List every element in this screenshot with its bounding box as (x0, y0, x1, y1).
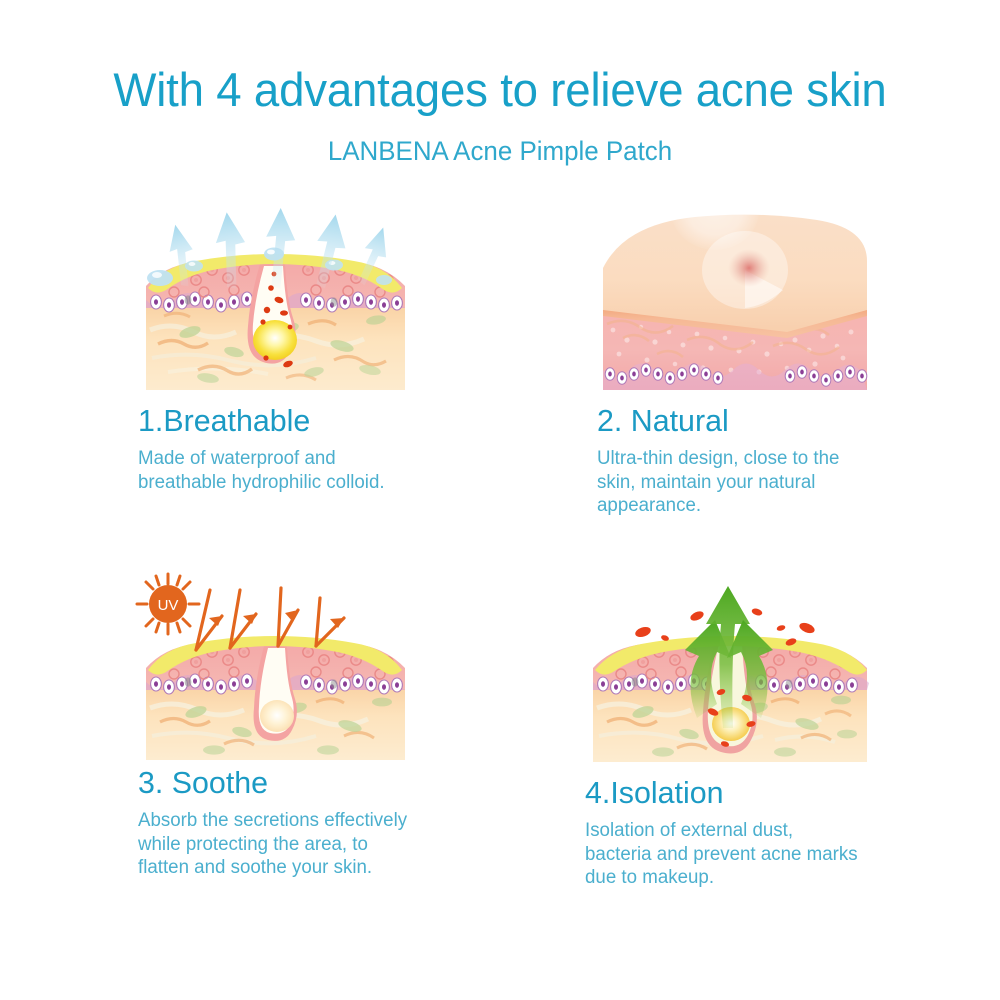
feature-body: Isolation of external dust, bacteria and… (585, 819, 861, 890)
illustration-breathable (138, 212, 413, 392)
feature-body: Made of waterproof and breathable hydrop… (138, 447, 404, 494)
feature-heading: 2. Natural (597, 404, 989, 438)
feature-heading: 4.Isolation (585, 776, 977, 810)
feature-card-soothe: UV (138, 572, 558, 880)
feature-heading: 1.Breathable (138, 404, 550, 438)
sebum-core (260, 700, 294, 732)
feature-card-breathable: 1.Breathable Made of waterproof and brea… (138, 212, 558, 494)
illustration-natural (597, 212, 872, 392)
feature-body: Absorb the secretions effectively while … (138, 809, 424, 880)
infographic-page: With 4 advantages to relieve acne skin L… (0, 0, 1000, 1000)
feature-card-natural: 2. Natural Ultra-thin design, close to t… (597, 212, 997, 518)
page-title: With 4 advantages to relieve acne skin (15, 62, 985, 117)
uv-badge-label: UV (158, 597, 179, 614)
feature-card-isolation: 4.Isolation Isolation of external dust, … (585, 572, 985, 890)
illustration-soothe: UV (138, 572, 413, 752)
uv-sun-icon: UV (137, 574, 199, 634)
pimple-spot (728, 249, 770, 287)
uv-arrow-heads (209, 610, 344, 628)
feature-heading: 3. Soothe (138, 766, 550, 800)
illustration-isolation (585, 572, 875, 762)
feature-body: Ultra-thin design, close to the skin, ma… (597, 447, 869, 518)
page-subtitle: LANBENA Acne Pimple Patch (20, 136, 980, 167)
skin-surface-block (603, 170, 867, 338)
